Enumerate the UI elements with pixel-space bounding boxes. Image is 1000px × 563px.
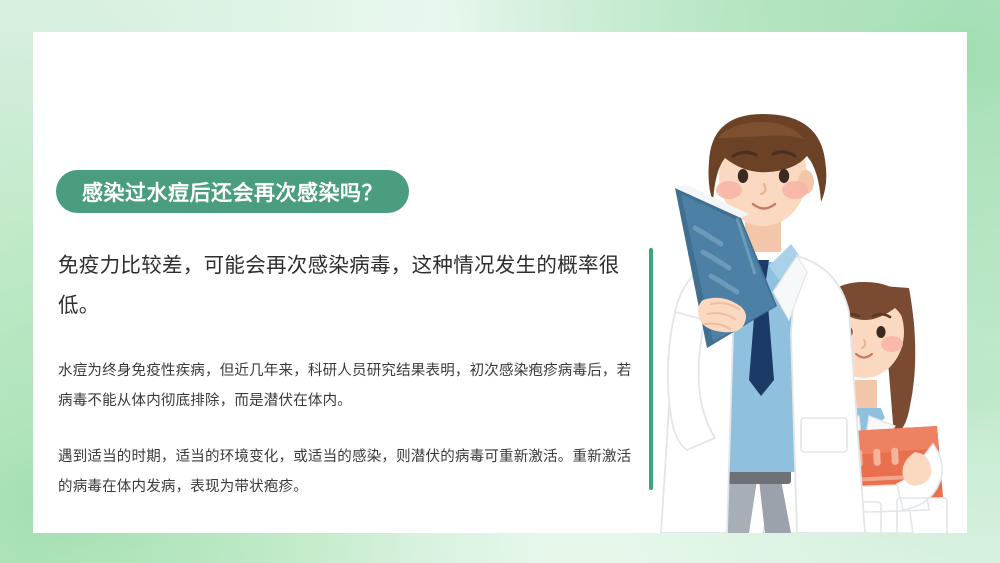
body-paragraph-2: 遇到适当的时期，适当的环境变化，或适当的感染，则潜伏的病毒可重新激活。重新激活的… bbox=[58, 442, 638, 502]
two-doctors-illustration bbox=[633, 32, 967, 533]
lede-paragraph: 免疫力比较差，可能会再次感染病毒，这种情况发生的概率很低。 bbox=[58, 246, 638, 326]
body-paragraph-1: 水痘为终身免疫性疾病，但近几年来，科研人员研究结果表明，初次感染疱疹病毒后，若病… bbox=[58, 356, 638, 416]
male-doctor-figure bbox=[661, 114, 865, 533]
section-title-text: 感染过水痘后还会再次感染吗？ bbox=[82, 177, 383, 207]
slide-root: 感染过水痘后还会再次感染吗？ 免疫力比较差，可能会再次感染病毒，这种情况发生的概… bbox=[0, 0, 1000, 563]
white-content-card: 感染过水痘后还会再次感染吗？ 免疫力比较差，可能会再次感染病毒，这种情况发生的概… bbox=[33, 32, 967, 533]
body-text-column: 免疫力比较差，可能会再次感染病毒，这种情况发生的概率很低。 水痘为终身免疫性疾病… bbox=[58, 246, 638, 502]
section-title-pill: 感染过水痘后还会再次感染吗？ bbox=[56, 170, 409, 213]
